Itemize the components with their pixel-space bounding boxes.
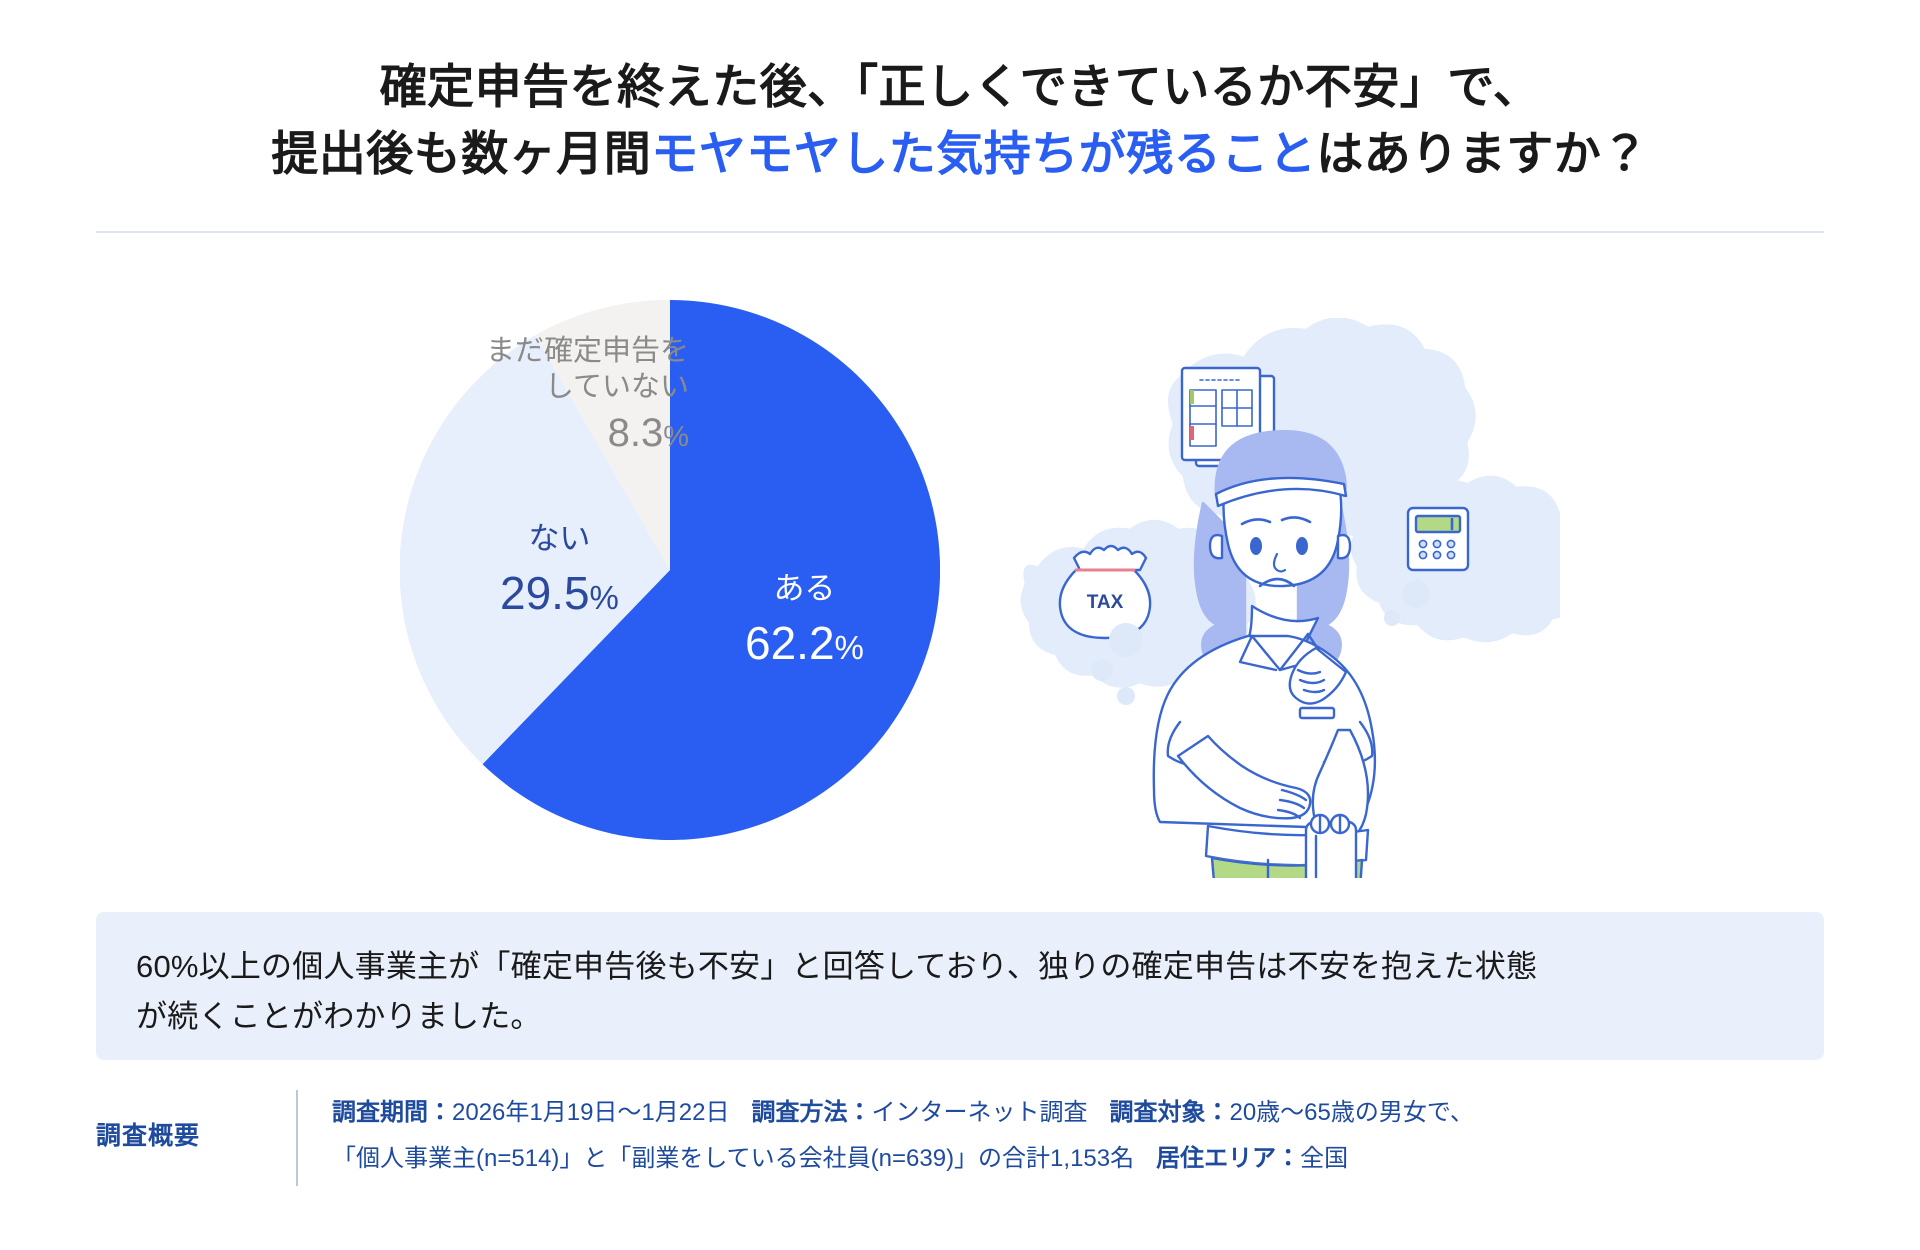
pie-label-nai-percent: 29.5% <box>500 565 619 623</box>
pie-label-mada-unit: % <box>663 421 689 453</box>
pie-label-nai-unit: % <box>590 579 619 616</box>
survey-method-key: 調査方法： <box>751 1099 871 1126</box>
summary-line-1: 60%以上の個人事業主が「確定申告後も不安」と回答しており、独りの確定申告は不安… <box>136 942 1784 992</box>
infographic-page: 確定申告を終えた後、「正しくできているか不安」で、 提出後も数ヶ月間モヤモヤした… <box>0 0 1920 1250</box>
survey-period-key: 調査期間： <box>332 1099 452 1126</box>
survey-area-value: 全国 <box>1300 1145 1348 1172</box>
survey-target-value: 20歳～65歳の男女で、 <box>1229 1099 1473 1126</box>
title-line-2-suffix: はありますか？ <box>1316 127 1649 180</box>
title-line-2-prefix: 提出後も数ヶ月間 <box>271 127 651 180</box>
summary-line-2: が続くことがわかりました。 <box>136 992 1784 1042</box>
pie-label-aru-percent: 62.2% <box>745 615 864 673</box>
survey-area-key: 居住エリア： <box>1156 1145 1300 1172</box>
title-divider <box>96 231 1824 233</box>
pie-label-mada: まだ確定申告を していない 8.3% <box>486 333 689 458</box>
title-line-1: 確定申告を終えた後、「正しくできているか不安」で、 <box>0 54 1920 121</box>
pie-label-nai: ない 29.5% <box>500 520 619 622</box>
pie-label-aru-unit: % <box>835 629 864 666</box>
survey-overview-row-2: 「個人事業主(n=514)」と「副業をしている会社員(n=639)」の合計1,1… <box>332 1136 1824 1182</box>
page-title: 確定申告を終えた後、「正しくできているか不安」で、 提出後も数ヶ月間モヤモヤした… <box>0 54 1920 187</box>
title-line-2-highlight: モヤモヤした気持ちが残ること <box>651 127 1316 180</box>
footer-divider <box>296 1090 298 1186</box>
worried-woman-illustration: TAX <box>1020 318 1560 878</box>
pie-label-aru-value: 62.2 <box>745 617 835 669</box>
pie-label-mada-line2: していない <box>486 369 689 405</box>
pie-label-mada-percent: 8.3% <box>486 408 689 458</box>
pie-label-nai-value: 29.5 <box>500 567 590 619</box>
summary-callout: 60%以上の個人事業主が「確定申告後も不安」と回答しており、独りの確定申告は不安… <box>96 912 1824 1060</box>
pie-label-mada-value: 8.3 <box>608 411 664 455</box>
survey-method-value: インターネット調査 <box>871 1099 1087 1126</box>
survey-overview-body: 調査期間：2026年1月19日～1月22日調査方法：インターネット調査調査対象：… <box>332 1090 1824 1182</box>
pie-label-nai-category: ない <box>500 520 619 559</box>
survey-overview: 調査概要 調査期間：2026年1月19日～1月22日調査方法：インターネット調査… <box>96 1090 1824 1186</box>
svg-text:TAX: TAX <box>1087 592 1124 613</box>
survey-target-key: 調査対象： <box>1109 1099 1229 1126</box>
survey-period-value: 2026年1月19日～1月22日 <box>452 1099 729 1126</box>
title-line-2: 提出後も数ヶ月間モヤモヤした気持ちが残ることはありますか？ <box>0 121 1920 188</box>
pie-label-aru-category: ある <box>745 570 864 609</box>
survey-overview-row-1: 調査期間：2026年1月19日～1月22日調査方法：インターネット調査調査対象：… <box>332 1090 1824 1136</box>
pie-label-mada-line1: まだ確定申告を <box>486 333 689 369</box>
survey-sample-text: 「個人事業主(n=514)」と「副業をしている会社員(n=639)」の合計1,1… <box>332 1145 1134 1172</box>
pie-label-aru: ある 62.2% <box>745 570 864 672</box>
survey-overview-label: 調査概要 <box>96 1090 296 1152</box>
